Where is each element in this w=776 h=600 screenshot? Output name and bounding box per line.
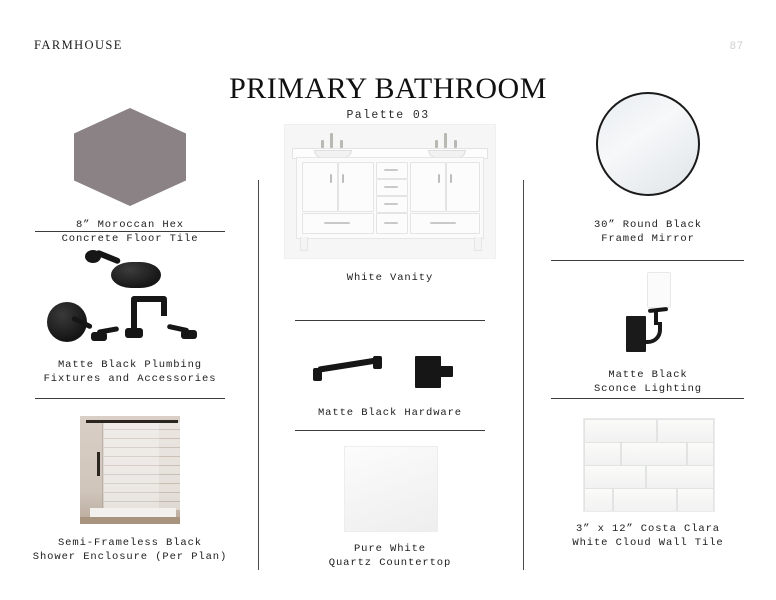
faucet-handle-right-base xyxy=(181,330,197,339)
vanity-faucet-left-handle-b xyxy=(340,140,343,148)
item-caption: White Vanity xyxy=(278,271,502,285)
sconce-shade-fitter xyxy=(648,307,668,313)
quartz-slab-swatch xyxy=(344,446,436,530)
item-vanity[interactable]: White Vanity xyxy=(278,124,502,285)
sconce-backplate xyxy=(626,316,646,352)
shower-head-and-faucet-art xyxy=(35,244,225,354)
shower-door-handle xyxy=(97,452,100,476)
sconce-shade xyxy=(647,272,671,308)
wall-hook-plate xyxy=(415,356,441,388)
vanity-door-left-a xyxy=(302,162,338,212)
item-mirror[interactable]: 30” Round Black Framed Mirror xyxy=(536,92,760,246)
section-divider-left-2 xyxy=(35,398,225,399)
section-divider-right-2 xyxy=(551,398,744,399)
item-plumbing-fixtures[interactable]: Matte Black Plumbing Fixtures and Access… xyxy=(18,244,242,386)
item-floor-tile[interactable]: 8” Moroccan Hex Concrete Floor Tile xyxy=(18,108,242,246)
wall-hook-peg xyxy=(439,366,453,377)
faucet-spout-drop xyxy=(161,300,167,316)
shower-head-icon xyxy=(111,262,161,288)
item-shower-enclosure[interactable]: Semi-Frameless Black Shower Enclosure (P… xyxy=(18,416,242,564)
faucet-riser xyxy=(131,300,137,330)
item-wall-tile[interactable]: 3” x 12” Costa Clara White Cloud Wall Ti… xyxy=(536,418,760,550)
section-divider-right-1 xyxy=(551,260,744,261)
section-divider-center-2 xyxy=(295,430,485,431)
column-divider-right xyxy=(523,180,524,570)
item-caption: 3” x 12” Costa Clara White Cloud Wall Ti… xyxy=(536,522,760,550)
round-framed-mirror xyxy=(596,92,700,196)
faucet-base xyxy=(125,328,143,338)
collection-label: FARMHOUSE xyxy=(34,38,123,53)
hexagon-tile-swatch xyxy=(74,108,186,206)
item-hardware[interactable]: Matte Black Hardware xyxy=(278,336,502,420)
shower-door-rail xyxy=(86,420,178,423)
item-caption: 8” Moroccan Hex Concrete Floor Tile xyxy=(18,218,242,246)
white-double-vanity xyxy=(284,124,496,259)
vanity-faucet-right-spout xyxy=(444,133,447,148)
shower-enclosure-photo xyxy=(80,416,180,524)
section-divider-left-1 xyxy=(35,231,225,232)
vanity-door-right-b xyxy=(446,162,480,212)
item-sconce[interactable]: Matte Black Sconce Lighting xyxy=(536,272,760,396)
vanity-faucet-right-handle-a xyxy=(435,140,438,148)
item-caption: 30” Round Black Framed Mirror xyxy=(536,218,760,246)
vanity-door-left-b xyxy=(338,162,374,212)
vanity-faucet-left-handle-a xyxy=(321,140,324,148)
towel-bar-rail xyxy=(317,357,379,373)
item-caption: Semi-Frameless Black Shower Enclosure (P… xyxy=(18,536,242,564)
column-divider-left xyxy=(258,180,259,570)
mood-board-page: FARMHOUSE 87 PRIMARY BATHROOM Palette 03… xyxy=(0,0,776,600)
item-countertop[interactable]: Pure White Quartz Countertop xyxy=(278,446,502,570)
page-number: 87 xyxy=(730,40,744,52)
item-caption: Pure White Quartz Countertop xyxy=(278,542,502,570)
item-caption: Matte Black Plumbing Fixtures and Access… xyxy=(18,358,242,386)
item-caption: Matte Black Hardware xyxy=(278,406,502,420)
vanity-door-right-a xyxy=(410,162,446,212)
towel-bar-mount-right xyxy=(373,356,382,369)
towel-bar-and-hook xyxy=(295,336,485,398)
subway-tile-swatch xyxy=(583,418,713,510)
faucet-handle-left-base xyxy=(91,332,107,341)
wall-sconce xyxy=(614,272,682,360)
vanity-faucet-right-handle-b xyxy=(454,140,457,148)
item-caption: Matte Black Sconce Lighting xyxy=(536,368,760,396)
section-divider-center-1 xyxy=(295,320,485,321)
vanity-faucet-left-spout xyxy=(330,133,333,148)
